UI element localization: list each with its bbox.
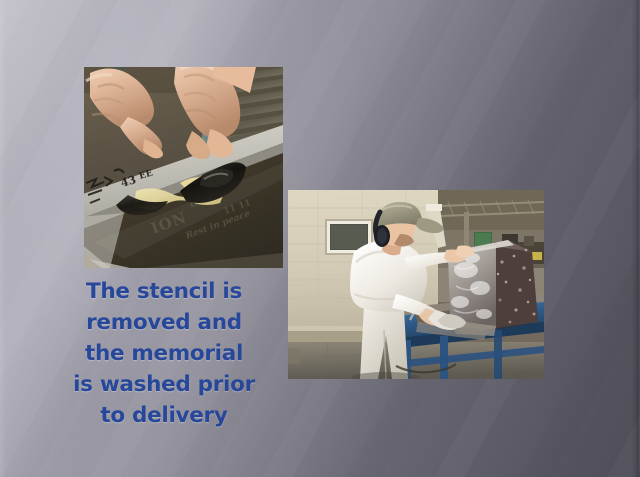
caption-line-3: the memorial bbox=[48, 338, 280, 369]
memorial-washing-photo[interactable] bbox=[288, 190, 544, 379]
caption-line-5: to delivery bbox=[48, 400, 280, 431]
memorial-washing-photo-art bbox=[288, 190, 544, 379]
slide-caption: The stencil is removed and the memorial … bbox=[48, 276, 280, 431]
caption-line-4: is washed prior bbox=[48, 369, 280, 400]
slide-left-edge bbox=[0, 0, 6, 477]
stencil-removal-photo-art: ION 85-2 Rest in peace 11 11 5-96 bbox=[84, 67, 283, 268]
stencil-removal-photo[interactable]: ION 85-2 Rest in peace 11 11 5-96 bbox=[84, 67, 283, 268]
caption-line-2: removed and bbox=[48, 307, 280, 338]
caption-line-1: The stencil is bbox=[48, 276, 280, 307]
presentation-slide: ION 85-2 Rest in peace 11 11 5-96 bbox=[0, 0, 640, 477]
slide-right-edge bbox=[631, 0, 640, 477]
